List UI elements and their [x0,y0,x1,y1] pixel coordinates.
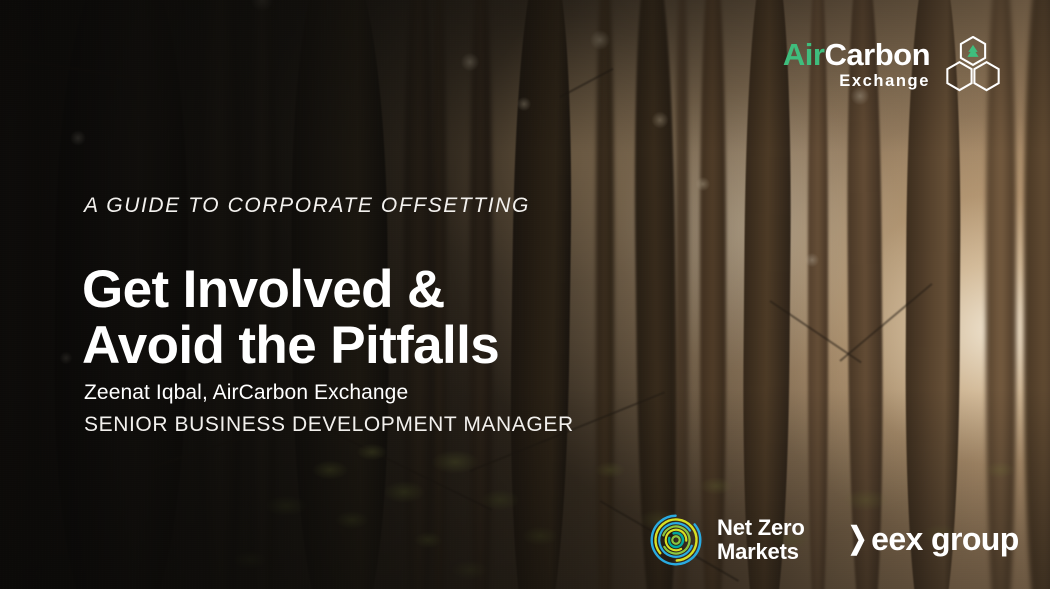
net-zero-markets-line2: Markets [717,540,805,564]
aircarbon-exchange-logo[interactable]: AirCarbon Exchange [783,36,1002,92]
three-hexagons-tree-icon [944,36,1002,92]
concentric-rings-icon [648,512,704,568]
eex-group-wordmark: eex group [871,523,1019,555]
chevron-right-icon: ❯ [848,524,868,554]
net-zero-markets-logo[interactable]: Net Zero Markets [648,512,805,568]
eex-group-logo[interactable]: ❯ eex group [845,523,1019,555]
aircarbon-logo-wordmark: AirCarbon Exchange [783,39,930,90]
net-zero-markets-wordmark: Net Zero Markets [717,516,805,563]
aircarbon-logo-line1: AirCarbon [783,39,930,70]
net-zero-markets-line1: Net Zero [717,516,805,540]
aircarbon-logo-air: Air [783,37,825,72]
slide-kicker: A GUIDE TO CORPORATE OFFSETTING [84,194,530,218]
aircarbon-logo-exchange: Exchange [839,73,930,90]
speaker-name: Zeenat Iqbal, AirCarbon Exchange [84,381,408,405]
presentation-slide: AirCarbon Exchange A GUIDE TO CORPORATE … [0,0,1050,589]
aircarbon-logo-carbon: Carbon [825,37,931,72]
slide-title: Get Involved & Avoid the Pitfalls [82,262,499,374]
speaker-role: SENIOR BUSINESS DEVELOPMENT MANAGER [84,413,574,437]
